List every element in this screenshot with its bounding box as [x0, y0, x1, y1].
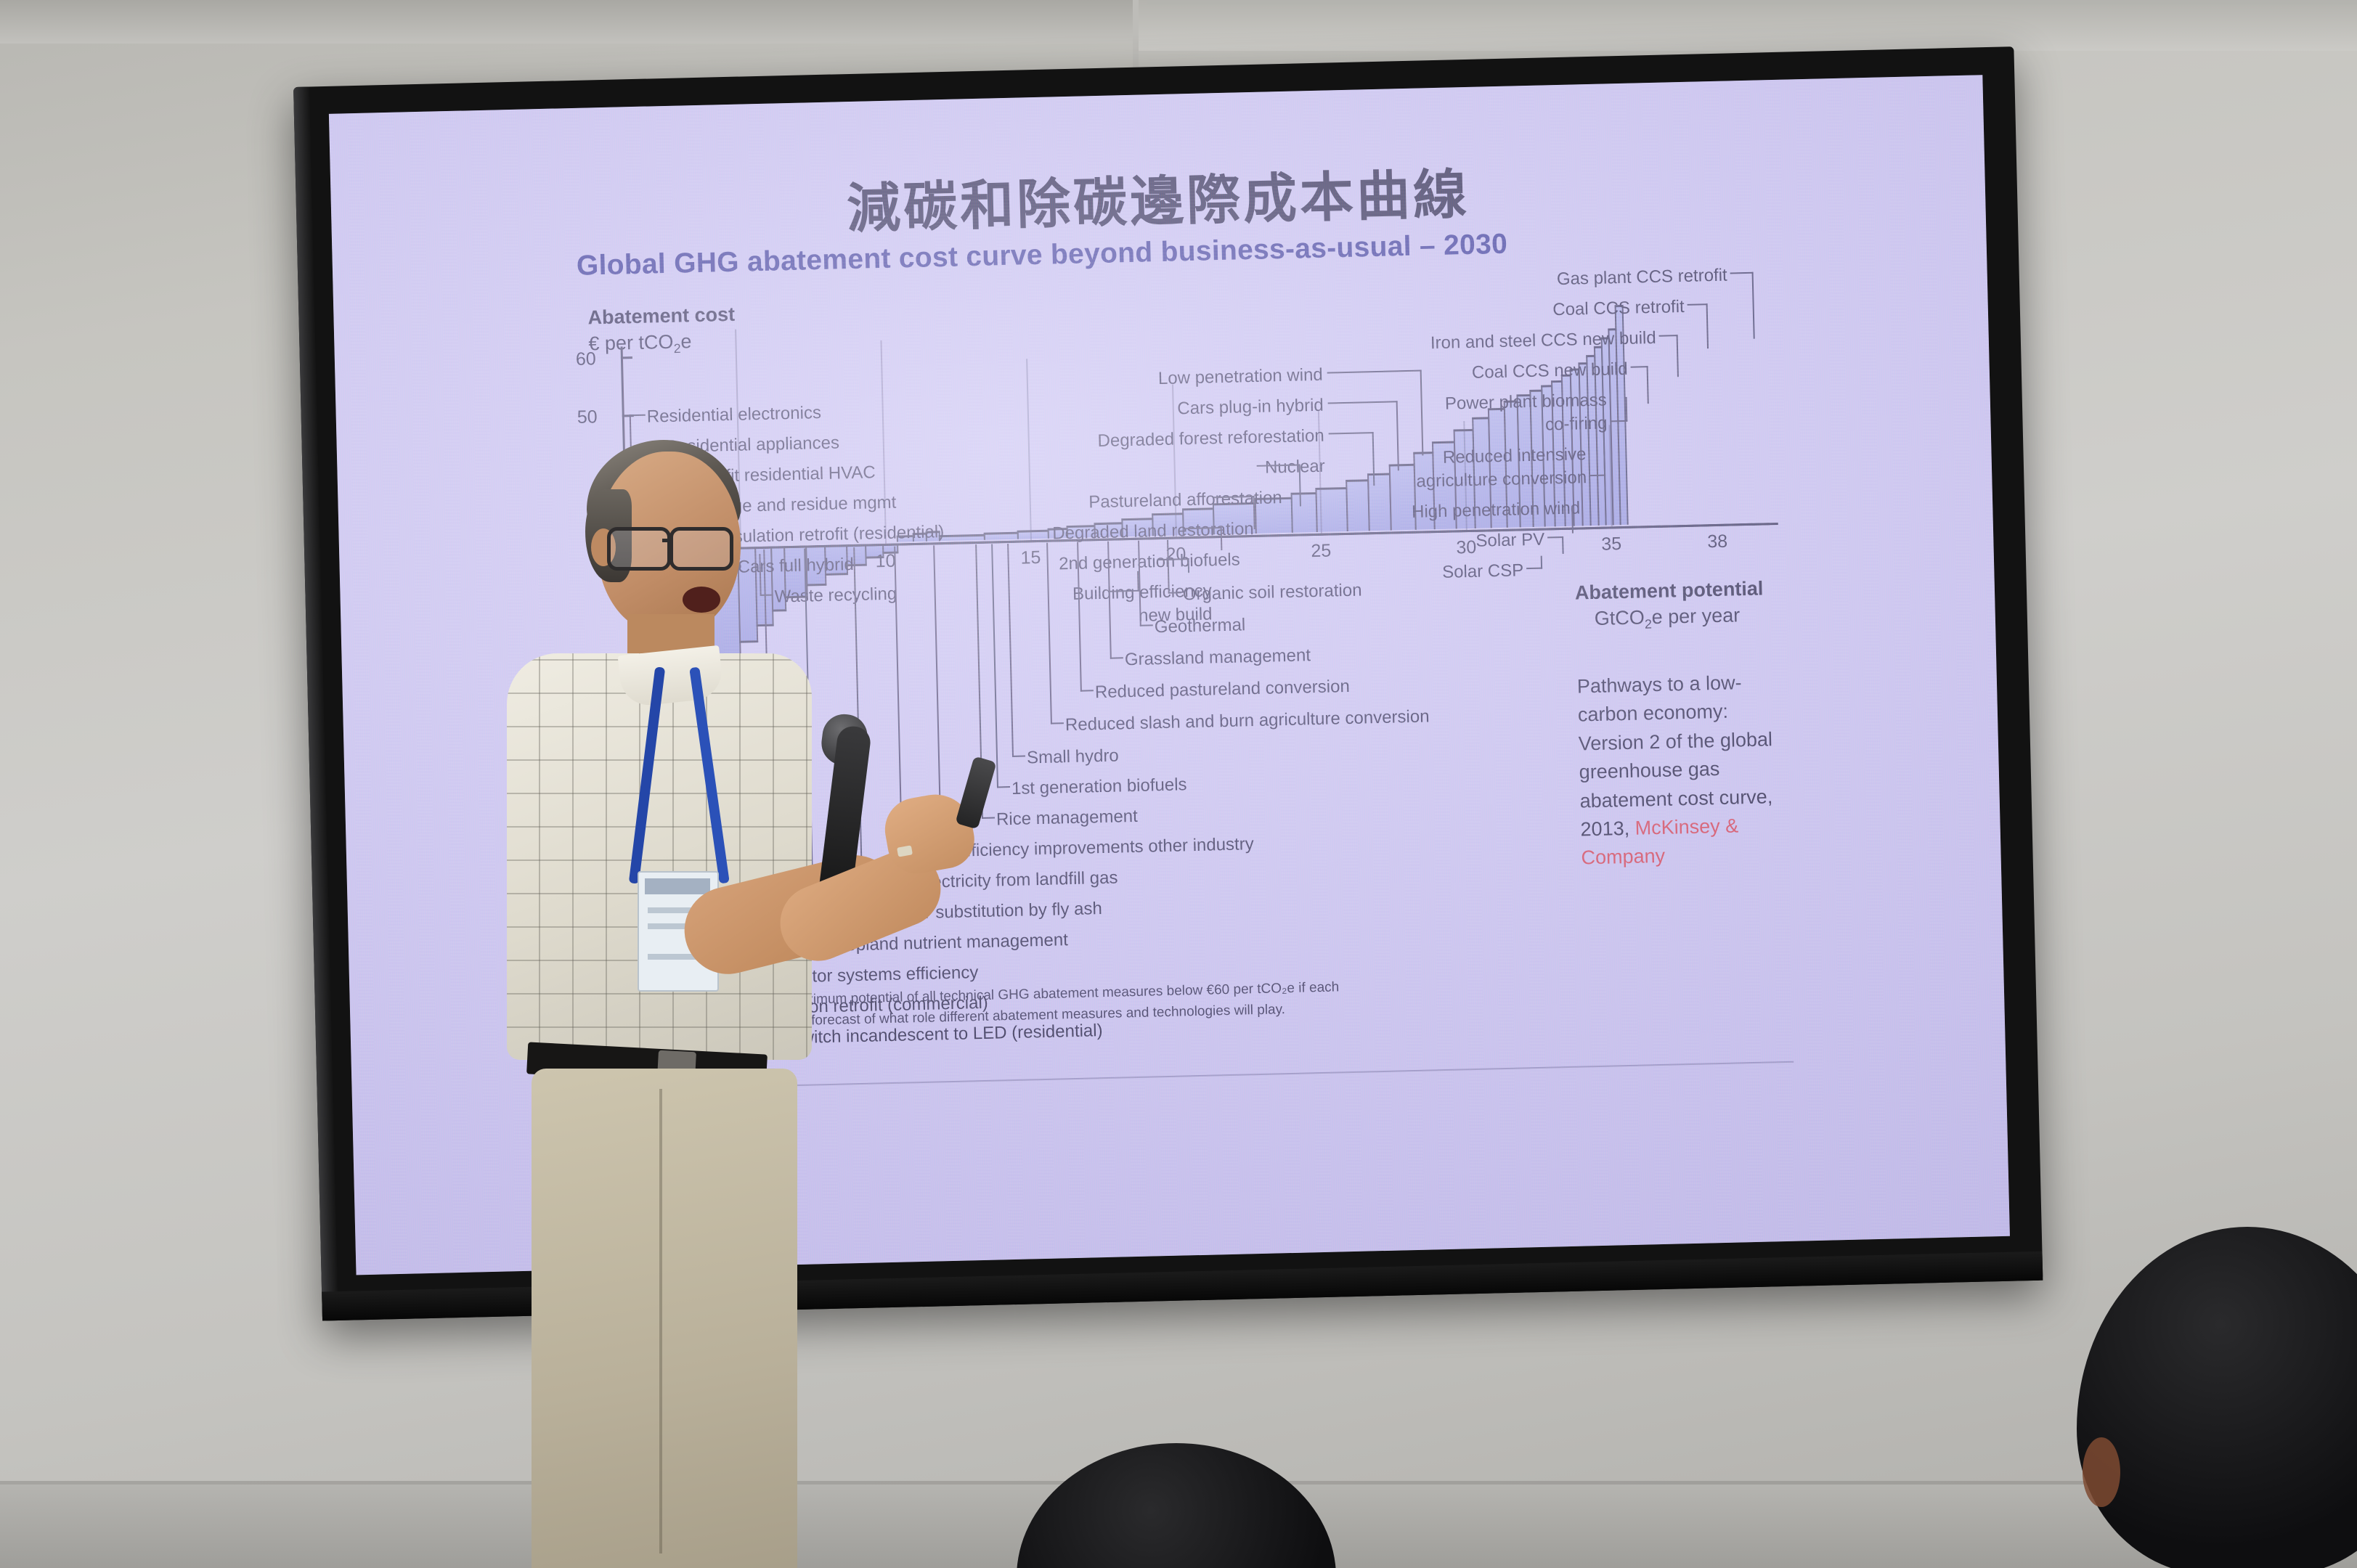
y-tick-label-60: 60 — [576, 348, 596, 370]
label-organic-soil-restoration: Organic soil restoration — [1182, 581, 1361, 605]
audience-head-right-ear — [2083, 1437, 2120, 1507]
leader-line — [1051, 722, 1064, 724]
leader-line — [1140, 624, 1153, 626]
source-line6: 2013, — [1580, 817, 1635, 841]
leader-line — [991, 544, 998, 788]
label-small-hydro: Small hydro — [1027, 746, 1119, 768]
x-axis-title-line2: GtCO2e per year — [1575, 604, 1740, 629]
badge-header — [645, 878, 710, 894]
source-citation: Pathways to a low- carbon economy: Versi… — [1576, 668, 1799, 873]
source-line4: greenhouse gas — [1579, 758, 1719, 783]
source-line3: Version 2 of the global — [1578, 728, 1772, 754]
label-geothermal: Geothermal — [1155, 615, 1246, 637]
label-grassland-management: Grassland management — [1125, 645, 1311, 670]
x-axis-title: Abatement potential GtCO2e per year — [1574, 576, 1764, 636]
audience-head-right — [2077, 1227, 2357, 1568]
x-tick-label-38: 38 — [1707, 531, 1727, 553]
label-1st-generation-biofuels: 1st generation biofuels — [1011, 775, 1187, 799]
label-residential-electronics: Residential electronics — [647, 403, 822, 428]
source-mckinsey: McKinsey & — [1635, 814, 1738, 838]
source-line1: Pathways to a low- — [1577, 671, 1742, 697]
x-tick-label-35: 35 — [1601, 534, 1621, 555]
label-reduced-pastureland-conversion: Reduced pastureland conversion — [1095, 677, 1350, 703]
source-line2: carbon economy: — [1578, 701, 1729, 726]
eyeglasses-right-lens — [669, 527, 733, 571]
wall-right-panel — [1137, 0, 2357, 51]
label-rice-management: Rice management — [996, 807, 1138, 830]
leader-line — [982, 817, 995, 819]
y-tick-label-50: 50 — [577, 407, 597, 428]
label-electricity-from-landfill-gas: Electricity from landfill gas — [916, 868, 1118, 894]
lecture-room-scene: 減碳和除碳邊際成本曲線 Global GHG abatement cost cu… — [0, 0, 2357, 1568]
presenter-mouth — [683, 587, 720, 613]
wall-seam — [1147, 0, 2357, 4]
presenter — [465, 436, 842, 1568]
eyeglasses-left-lens — [607, 527, 671, 571]
eyeglasses-bridge — [662, 539, 672, 542]
leader-line — [1730, 272, 1754, 274]
leader-line — [1541, 556, 1542, 569]
label-reduced-slash-burn: Reduced slash and burn agriculture conve… — [1065, 706, 1430, 735]
label-efficiency-improvements-other-industry: Efficiency improvements other industry — [955, 834, 1254, 862]
presenter-trousers — [532, 1069, 797, 1568]
source-company: Company — [1581, 845, 1665, 869]
trouser-seam — [659, 1089, 662, 1553]
x-axis-title-line1: Abatement potential — [1575, 578, 1764, 604]
leader-line — [1012, 756, 1025, 757]
leader-line — [1168, 592, 1181, 593]
leader-line — [1080, 690, 1094, 691]
leader-line — [1526, 568, 1542, 570]
label-gas-plant-ccs-retrofit: Gas plant CCS retrofit — [1277, 266, 1727, 297]
leader-line — [997, 786, 1010, 788]
leader-line — [1110, 657, 1123, 658]
audience-head-left — [1017, 1443, 1336, 1568]
source-line5: abatement cost curve, — [1579, 785, 1772, 812]
